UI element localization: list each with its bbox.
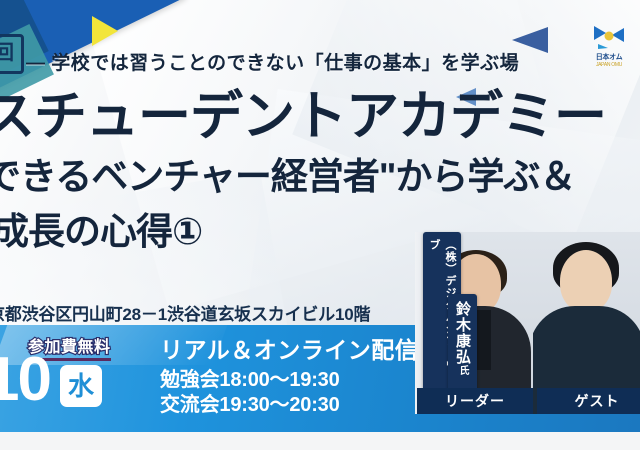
session-time-1: 勉強会18:00〜19:30 (160, 368, 418, 393)
speaker-photo-guest: Canly (533, 232, 640, 414)
venue-address: 京都渋谷区円山町28－1渋谷道玄坂スカイビル10階 (0, 300, 370, 325)
speaker-role-guest: ゲスト (537, 388, 640, 414)
broadcast-format: リアル＆オンライン配信 (160, 331, 418, 365)
speaker-name-suffix: 氏 (457, 365, 468, 376)
subtitle-line-1: できるベンチャー経営者"から学ぶ＆ (0, 158, 575, 195)
sponsor-logo-name: 日本オム (580, 52, 638, 62)
triangle-yellow-icon (92, 16, 118, 46)
event-date: / 10 水 (0, 349, 102, 411)
speaker-panel: Canly （株）デジタルシフトウェーブ 鈴木康弘氏 リーダー ゲスト (415, 232, 640, 432)
date-day: 10 (0, 349, 50, 411)
sponsor-logo-mark (592, 24, 626, 50)
session-number-badge: 回 (0, 34, 24, 74)
session-time-2: 交流会19:30〜20:30 (160, 393, 418, 418)
speaker-role-leader: リーダー (417, 388, 533, 414)
sponsor-logo-subtitle: JAPAN OMU (580, 62, 638, 68)
kicker-text: ― 学校では習うことのできない「仕事の基本」を学ぶ場 (26, 48, 519, 75)
speaker-b-face (560, 250, 612, 312)
sponsor-logo: 日本オム JAPAN OMU (580, 24, 638, 68)
speaker-name-text: 鈴木康弘 (454, 301, 471, 365)
date-weekday-badge: 水 (60, 365, 102, 407)
event-poster: 回 日本オム JAPAN OMU ― 学校では習うことのできない「仕事の基本」を… (0, 0, 640, 450)
page-title: スチューデントアカデミー (0, 90, 606, 143)
bottom-strip (0, 432, 640, 450)
subtitle-line-2: 成長の心得① (0, 213, 202, 250)
schedule-block: リアル＆オンライン配信 勉強会18:00〜19:30 交流会19:30〜20:3… (160, 331, 418, 418)
